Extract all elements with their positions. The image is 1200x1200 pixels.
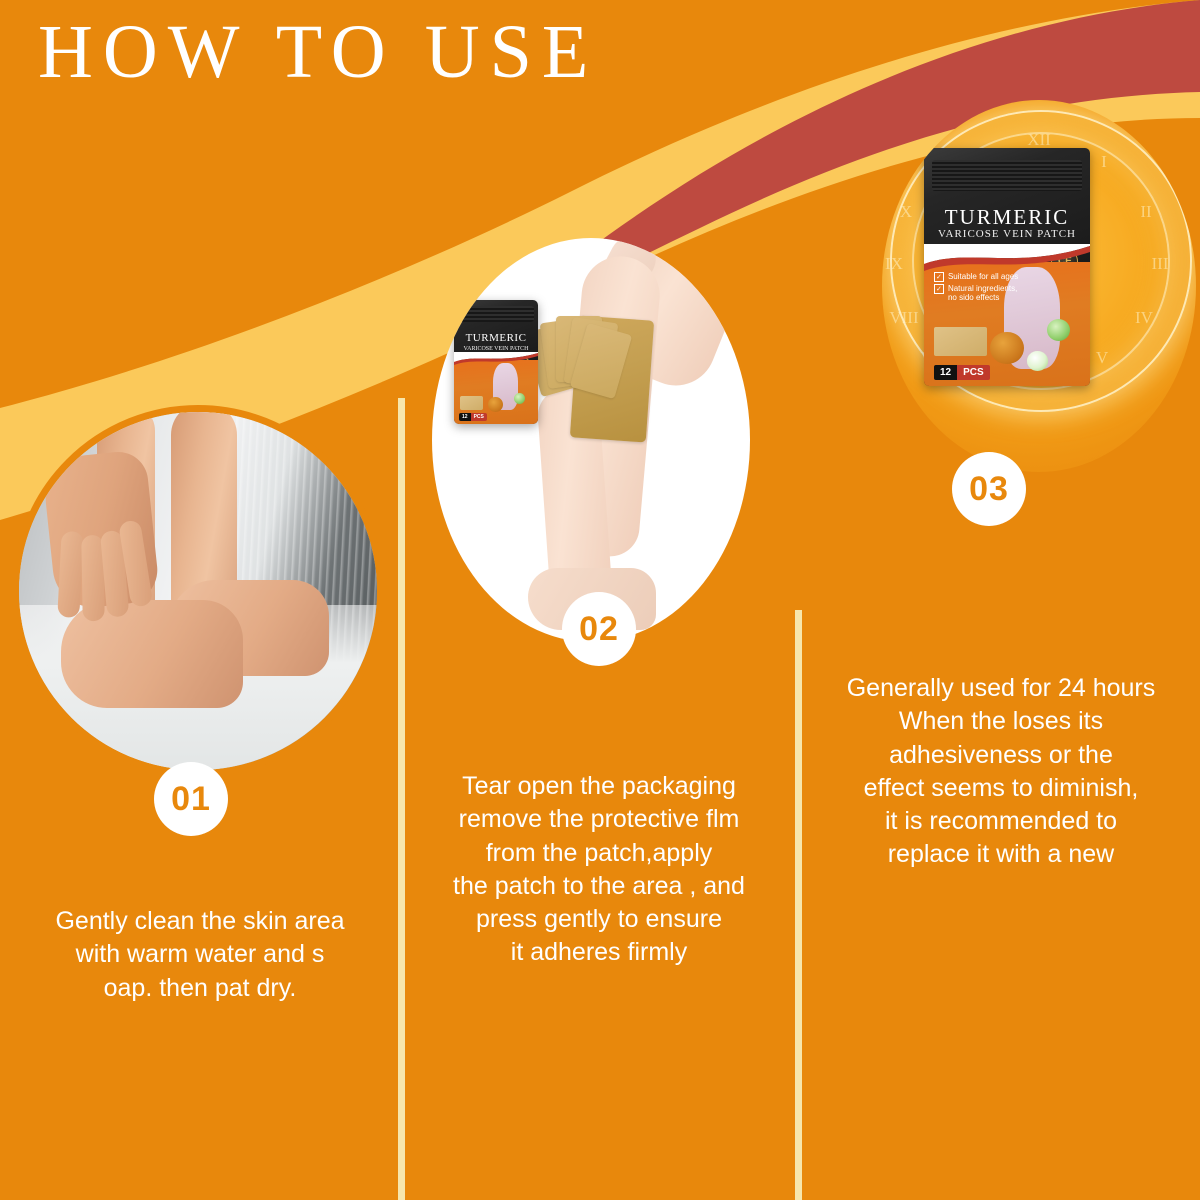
package-count-unit: PCS [957,365,990,380]
package-feature-item: ✓ Suitable for all ages [934,272,1018,282]
package-count-badge: 12 PCS [934,365,990,380]
step-2-image: TURMERIC VARICOSE VEIN PATCH 12 [432,238,750,642]
package-feature-label: Suitable for all ages [948,272,1018,281]
package-count-value: 12 [934,365,957,380]
hand [41,449,160,611]
page-title: HOW TO USE [38,14,598,90]
package-brand-name: TURMERIC [454,332,538,344]
package-patch-stack [934,327,987,357]
package-count-badge: 12 PCS [459,413,487,421]
step-1-number-badge: 01 [154,762,228,836]
product-package-large: TURMERIC VARICOSE VEIN PATCH FDA GMP ⚕ C… [924,148,1090,386]
step-3-caption: Generally used for 24 hours When the los… [806,672,1196,872]
package-feature-list: ✓ Suitable for all ages ✓ Natural ingred… [934,272,1018,304]
package-feature-item: ✓ Natural ingredients, no sido effects [934,284,1018,302]
product-package-small: TURMERIC VARICOSE VEIN PATCH 12 [454,300,538,424]
step-1-image [12,405,384,777]
checkmark-icon: ✓ [934,272,944,282]
package-wave [924,244,1090,274]
package-count-value: 12 [459,413,471,421]
package-leaf-icon [1047,319,1070,341]
package-turmeric-root [990,332,1023,364]
package-count-unit: PCS [471,413,487,421]
package-subtitle: VARICOSE VEIN PATCH [924,228,1090,240]
step-3-number-badge: 03 [952,452,1026,526]
package-zip-seal [932,160,1081,191]
package-wave [454,352,538,366]
step-2-caption: Tear open the packaging remove the prote… [408,770,790,970]
package-lower-panel: ✓ Suitable for all ages ✓ Natural ingred… [924,262,1090,386]
step-3-image: XII I II III IV V VII VIII IX X XI TURME… [882,100,1196,472]
patch-fan [532,310,624,406]
package-brand-name: TURMERIC [924,205,1090,230]
checkmark-icon: ✓ [934,284,944,294]
package-feature-label: Natural ingredients, no sido effects [948,284,1017,302]
how-to-use-infographic: HOW TO USE 01 Gently clean the skin area… [0,0,1200,1200]
step-2-number-badge: 02 [562,592,636,666]
step-1-caption: Gently clean the skin area with warm wat… [8,905,392,1005]
package-turmeric-root [488,397,503,412]
column-divider-left [398,398,405,1200]
package-lower-panel: 12 PCS [454,360,538,424]
package-zip-seal [458,306,534,322]
column-divider-right [795,610,802,1200]
package-patch-stack [460,396,484,410]
package-leaf-icon [514,393,525,404]
